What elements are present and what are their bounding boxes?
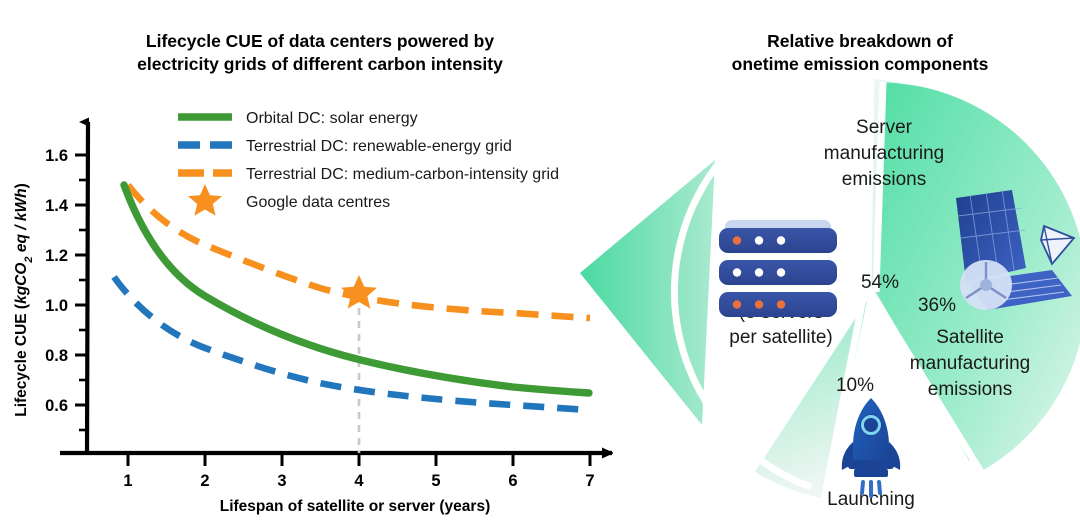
y-tick-label: 1.0 (45, 297, 68, 315)
pie-label-satellite-line1: Satellite (936, 327, 1004, 348)
pie-label-satellite-line3: emissions (928, 379, 1012, 400)
y-tick-label: 1.6 (45, 147, 68, 165)
y-axis-title-close: ) (13, 183, 30, 188)
legend-label-medium-carbon-grid: Terrestrial DC: medium-carbon-intensity … (246, 166, 559, 183)
x-tick-label: 2 (200, 472, 209, 490)
x-tick-label: 1 (123, 472, 132, 490)
pie-percent-satellite: 36% (918, 295, 956, 316)
rocket-icon (842, 398, 900, 496)
legend-label-orbital-solar: Orbital DC: solar energy (246, 110, 418, 127)
y-tick-label: 1.2 (45, 247, 68, 265)
y-axis-title-unit: kgCO (13, 263, 30, 304)
pie-percent-server: 54% (861, 272, 899, 293)
y-tick-label: 1.4 (45, 197, 69, 215)
left-panel-title: Lifecycle CUE of data centers powered by… (40, 30, 600, 76)
svg-text:Lifecycle CUE (kgCO2 eq / kWh): Lifecycle CUE (kgCO2 eq / kWh) (13, 183, 35, 417)
x-axis-tick-labels: 1 2 3 4 5 6 7 (123, 472, 594, 490)
emission-breakdown-pie-chart: Server manufacturing emissions (3 server… (620, 0, 1080, 522)
pie-label-server-line1: Server (856, 117, 913, 138)
pie-chart-panel: Relative breakdown of onetime emission c… (640, 0, 1080, 522)
lifecycle-cue-line-chart: 1.6 1.4 1.2 1.0 0.8 0.6 1 2 3 (0, 0, 640, 522)
left-title-line1: Lifecycle CUE of data centers powered by (40, 30, 600, 53)
legend-label-google-data-centres: Google data centres (246, 194, 390, 211)
x-axis-title: Lifespan of satellite or server (years) (220, 498, 491, 515)
legend-swatch-google-star (188, 184, 222, 216)
y-axis-title-unit2: eq / kWh (13, 188, 30, 256)
y-axis-title: Lifecycle CUE (kgCO2 eq / kWh) (13, 183, 35, 417)
x-tick-label: 7 (585, 472, 594, 490)
figure-root: Lifecycle CUE of data centers powered by… (0, 0, 1080, 522)
legend-label-renewable-grid: Terrestrial DC: renewable-energy grid (246, 138, 512, 155)
chart-legend: Orbital DC: solar energy Terrestrial DC:… (178, 110, 559, 216)
server-stack-icon (719, 220, 837, 317)
pie-sublabel-server-line2: per satellite) (729, 327, 833, 348)
google-data-centres-star-marker (341, 275, 377, 309)
y-tick-label: 0.8 (45, 347, 68, 365)
y-tick-label: 0.6 (45, 397, 68, 415)
x-tick-label: 5 (431, 472, 440, 490)
pie-label-satellite-line2: manufacturing (910, 353, 1030, 374)
x-tick-label: 4 (354, 472, 364, 490)
pie-label-server-line3: emissions (842, 169, 926, 190)
y-axis-tick-labels: 1.6 1.4 1.2 1.0 0.8 0.6 (45, 147, 69, 415)
pie-percent-launching: 10% (836, 375, 874, 396)
x-tick-label: 6 (508, 472, 517, 490)
pie-label-server-line2: manufacturing (824, 143, 944, 164)
line-chart-panel: Lifecycle CUE of data centers powered by… (0, 0, 640, 522)
x-tick-label: 3 (277, 472, 286, 490)
left-title-line2: electricity grids of different carbon in… (40, 53, 600, 76)
y-axis-title-main: Lifecycle CUE ( (13, 303, 30, 417)
y-axis-title-sub: 2 (23, 256, 35, 263)
